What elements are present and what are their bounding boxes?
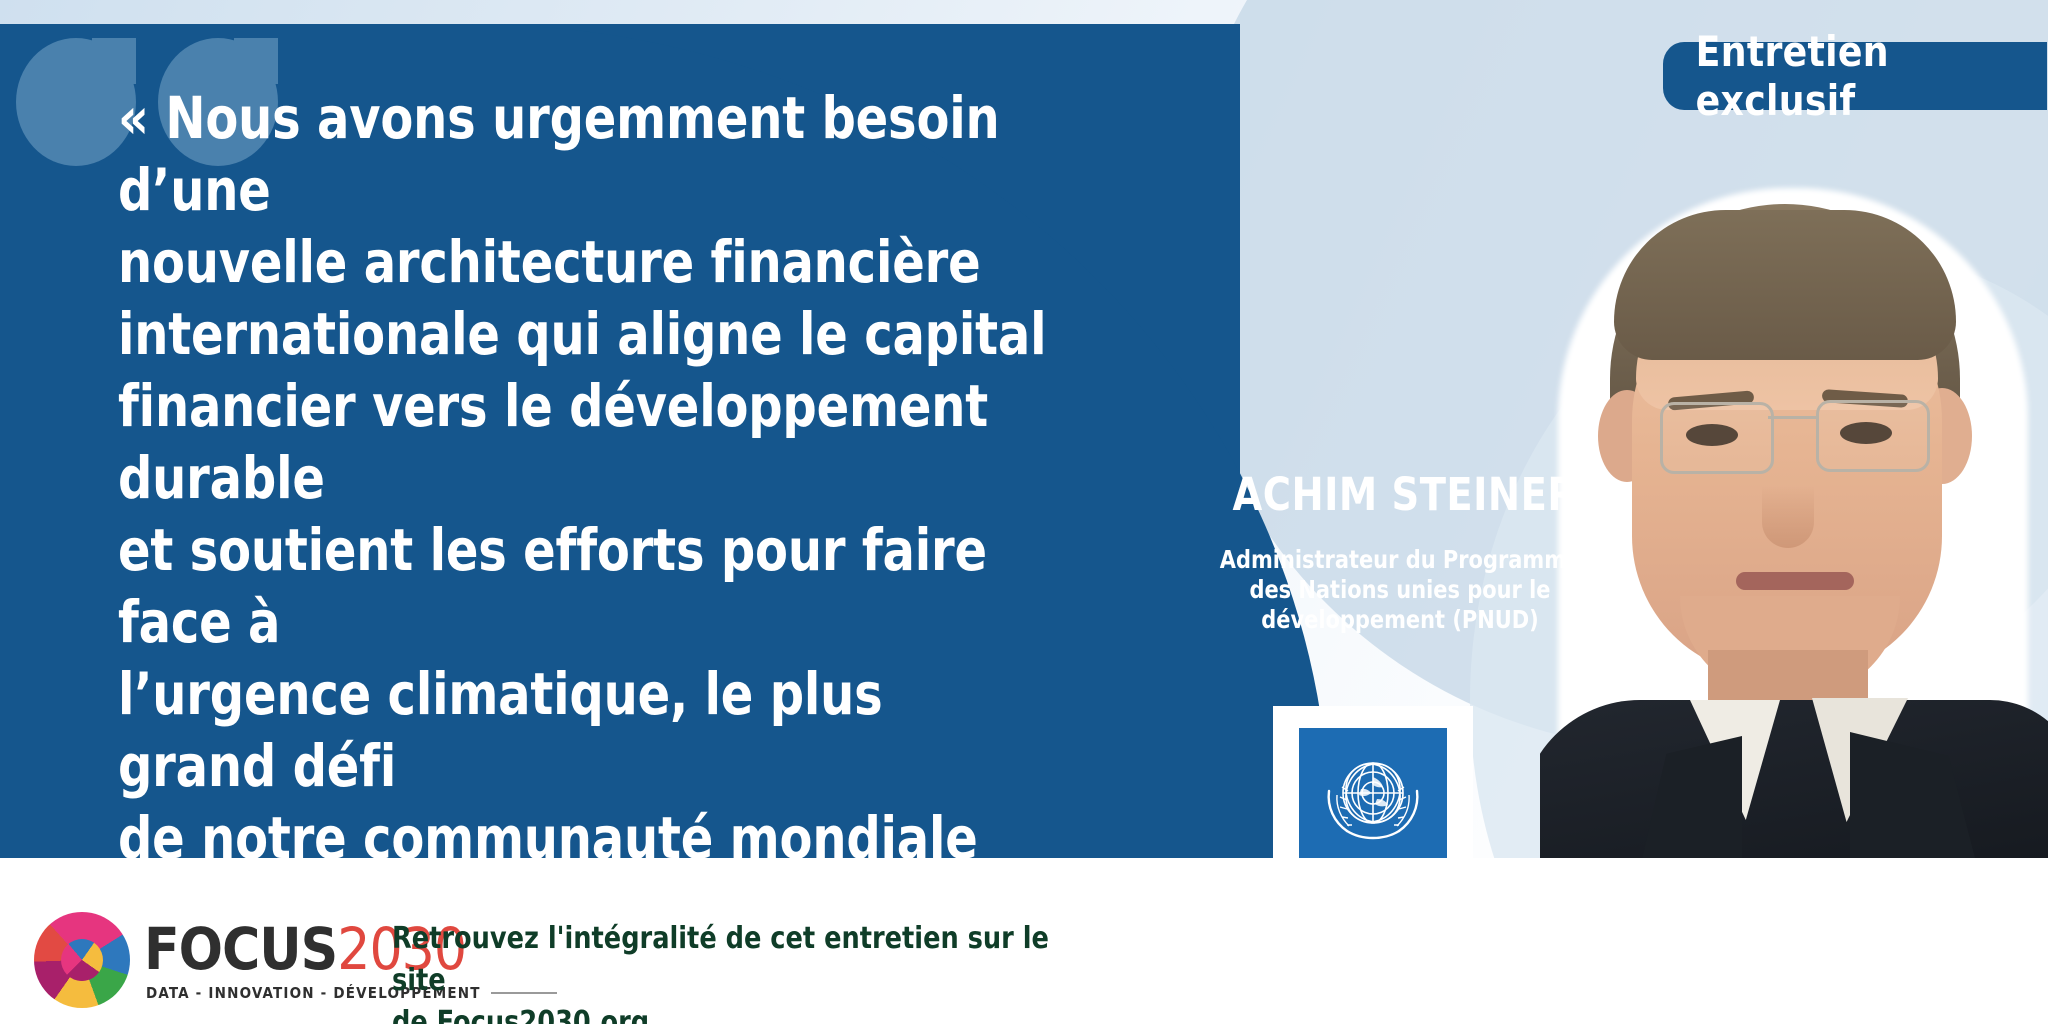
portrait-eyeglass-left — [1660, 402, 1774, 474]
focus2030-logo[interactable]: FOCUS2030 DATA - INNOVATION - DÉVELOPPEM… — [34, 906, 364, 1018]
portrait-nose — [1762, 452, 1814, 548]
focus2030-word-focus: FOCUS — [144, 915, 337, 983]
focus2030-wheel-icon — [34, 912, 130, 1008]
person-name: ACHIM STEINER — [1229, 468, 1581, 521]
united-nations-emblem-icon — [1299, 728, 1447, 870]
focus2030-link[interactable]: Focus2030.org. — [437, 1005, 659, 1024]
portrait-mouth — [1736, 572, 1854, 590]
portrait-eyeglass-right — [1816, 400, 1930, 472]
exclusive-interview-badge: Entretien exclusif — [1663, 42, 2047, 110]
footer-note: Retrouvez l'intégralité de cet entretien… — [392, 918, 1057, 1024]
portrait-eyeglass-bridge — [1768, 416, 1816, 419]
person-role: Administrateur du Programme des Nations … — [1215, 545, 1586, 635]
poster-canvas: « Nous avons urgemment besoin d’une nouv… — [0, 0, 2048, 1024]
portrait-hair-front — [1614, 210, 1956, 360]
